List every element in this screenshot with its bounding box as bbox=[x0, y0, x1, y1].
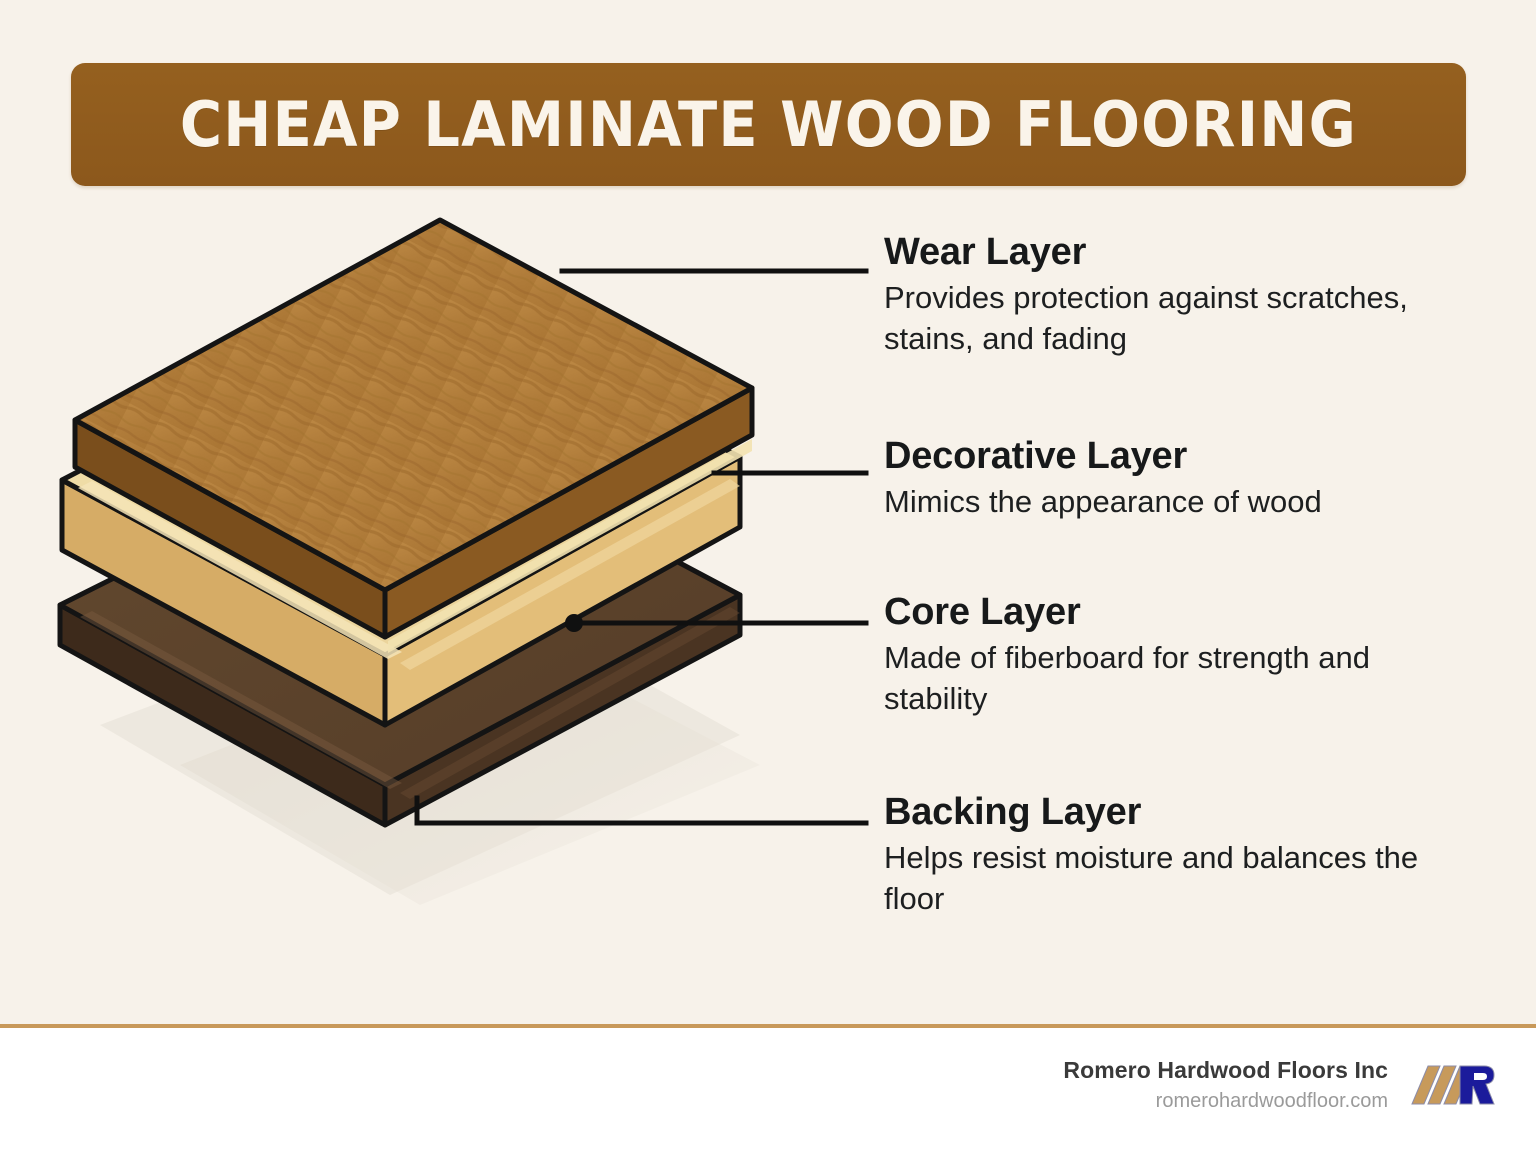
callout-heading: Backing Layer bbox=[884, 792, 1424, 832]
title-banner: CHEAP LAMINATE WOOD FLOORING bbox=[71, 63, 1466, 186]
laminate-stack-illustration bbox=[40, 205, 870, 905]
footer: Romero Hardwood Floors Inc romerohardwoo… bbox=[0, 1028, 1536, 1154]
company-name: Romero Hardwood Floors Inc bbox=[1063, 1056, 1388, 1085]
company-website[interactable]: romerohardwoodfloor.com bbox=[1063, 1088, 1388, 1115]
callout-decorative-layer: Decorative Layer Mimics the appearance o… bbox=[884, 436, 1322, 523]
footer-brand: Romero Hardwood Floors Inc romerohardwoo… bbox=[1063, 1056, 1496, 1115]
callout-description: Mimics the appearance of wood bbox=[884, 482, 1322, 523]
callout-wear-layer: Wear Layer Provides protection against s… bbox=[884, 232, 1424, 360]
romero-logo-icon bbox=[1410, 1058, 1496, 1114]
callout-heading: Decorative Layer bbox=[884, 436, 1322, 476]
callout-heading: Wear Layer bbox=[884, 232, 1424, 272]
callout-backing-layer: Backing Layer Helps resist moisture and … bbox=[884, 792, 1424, 920]
page-title: CHEAP LAMINATE WOOD FLOORING bbox=[180, 88, 1357, 161]
callout-core-layer: Core Layer Made of fiberboard for streng… bbox=[884, 592, 1424, 720]
footer-text: Romero Hardwood Floors Inc romerohardwoo… bbox=[1063, 1056, 1388, 1115]
callout-description: Helps resist moisture and balances the f… bbox=[884, 838, 1424, 920]
callout-description: Provides protection against scratches, s… bbox=[884, 278, 1424, 360]
infographic-root: CHEAP LAMINATE WOOD FLOORING bbox=[0, 0, 1536, 1154]
callout-description: Made of fiberboard for strength and stab… bbox=[884, 638, 1424, 720]
callout-heading: Core Layer bbox=[884, 592, 1424, 632]
